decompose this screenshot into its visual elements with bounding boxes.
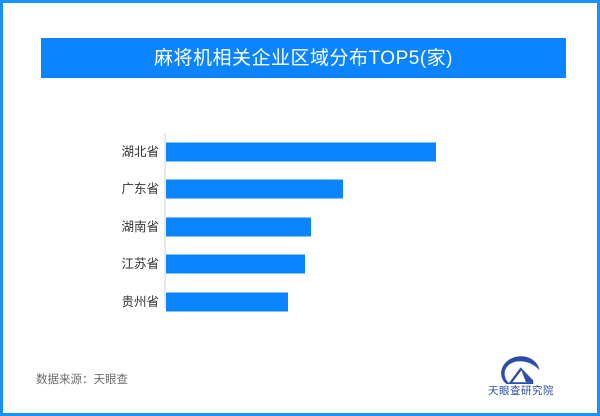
data-source-label: 数据来源：天眼查 [36, 375, 128, 387]
bar-row: 江苏省 [3, 246, 600, 284]
chart-title: 麻将机相关企业区域分布TOP5(家) [154, 49, 453, 68]
bar-4 [166, 292, 288, 311]
bar-row: 广东省 [3, 171, 600, 209]
tianyancha-arc-logo-icon [500, 355, 542, 385]
bar-track-0 [166, 142, 436, 161]
bar-2 [166, 217, 311, 236]
bar-track-2 [166, 217, 311, 236]
bar-track-4 [166, 292, 288, 311]
infographic-canvas: 麻将机相关企业区域分布TOP5(家) 湖北省 广东省 湖南省 [0, 0, 600, 416]
chart-title-banner: 麻将机相关企业区域分布TOP5(家) [41, 38, 566, 78]
bar-track-1 [166, 180, 343, 199]
bar-row: 湖北省 [3, 133, 600, 171]
category-label-2: 湖南省 [63, 221, 159, 234]
bar-3 [166, 255, 305, 274]
bar-row: 贵州省 [3, 283, 600, 321]
bar-0 [166, 142, 436, 161]
bar-track-3 [166, 255, 305, 274]
category-label-0: 湖北省 [63, 146, 159, 159]
category-label-4: 贵州省 [63, 296, 159, 309]
bar-row: 湖南省 [3, 208, 600, 246]
brand-name-label: 天眼查研究院 [488, 386, 554, 397]
category-label-3: 江苏省 [63, 258, 159, 271]
bar-1 [166, 180, 343, 199]
bar-chart: 湖北省 广东省 湖南省 江苏省 [3, 121, 600, 321]
category-label-1: 广东省 [63, 183, 159, 196]
brand-logo: 天眼查研究院 [475, 355, 567, 405]
bar-rows: 湖北省 广东省 湖南省 江苏省 [3, 133, 600, 321]
